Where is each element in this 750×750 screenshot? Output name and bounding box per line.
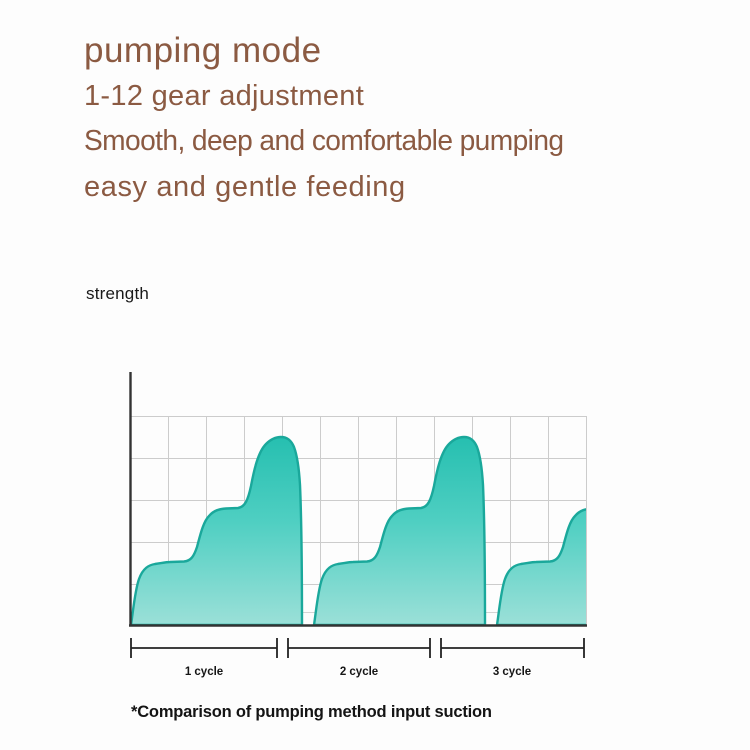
heading-block: pumping mode 1-12 gear adjustment Smooth…	[84, 28, 704, 210]
heading-line-1: pumping mode	[84, 28, 704, 74]
heading-line-4: easy and gentle feeding	[84, 164, 704, 210]
chart-y-axis-title: strength	[86, 284, 149, 304]
page-root: pumping mode 1-12 gear adjustment Smooth…	[0, 0, 750, 750]
heading-line-3: Smooth, deep and comfortable pumping	[84, 118, 685, 164]
cycle-label-2: 2 cycle	[340, 666, 378, 678]
suction-cycle-area-chart: 1 cycle 2 cycle 3 cycle	[0, 350, 750, 690]
chart-container: 1 cycle 2 cycle 3 cycle	[0, 350, 750, 690]
wave-cycle-3	[497, 437, 668, 625]
wave-cycle-1	[131, 437, 302, 625]
cycle-label-3: 3 cycle	[493, 666, 531, 678]
chart-caption: *Comparison of pumping method input suct…	[131, 703, 492, 722]
cycle-label-1: 1 cycle	[185, 666, 223, 678]
cycle-brackets	[131, 638, 584, 658]
wave-cycle-2	[314, 437, 485, 625]
wave-series	[131, 437, 668, 625]
heading-line-2: 1-12 gear adjustment	[84, 74, 704, 118]
